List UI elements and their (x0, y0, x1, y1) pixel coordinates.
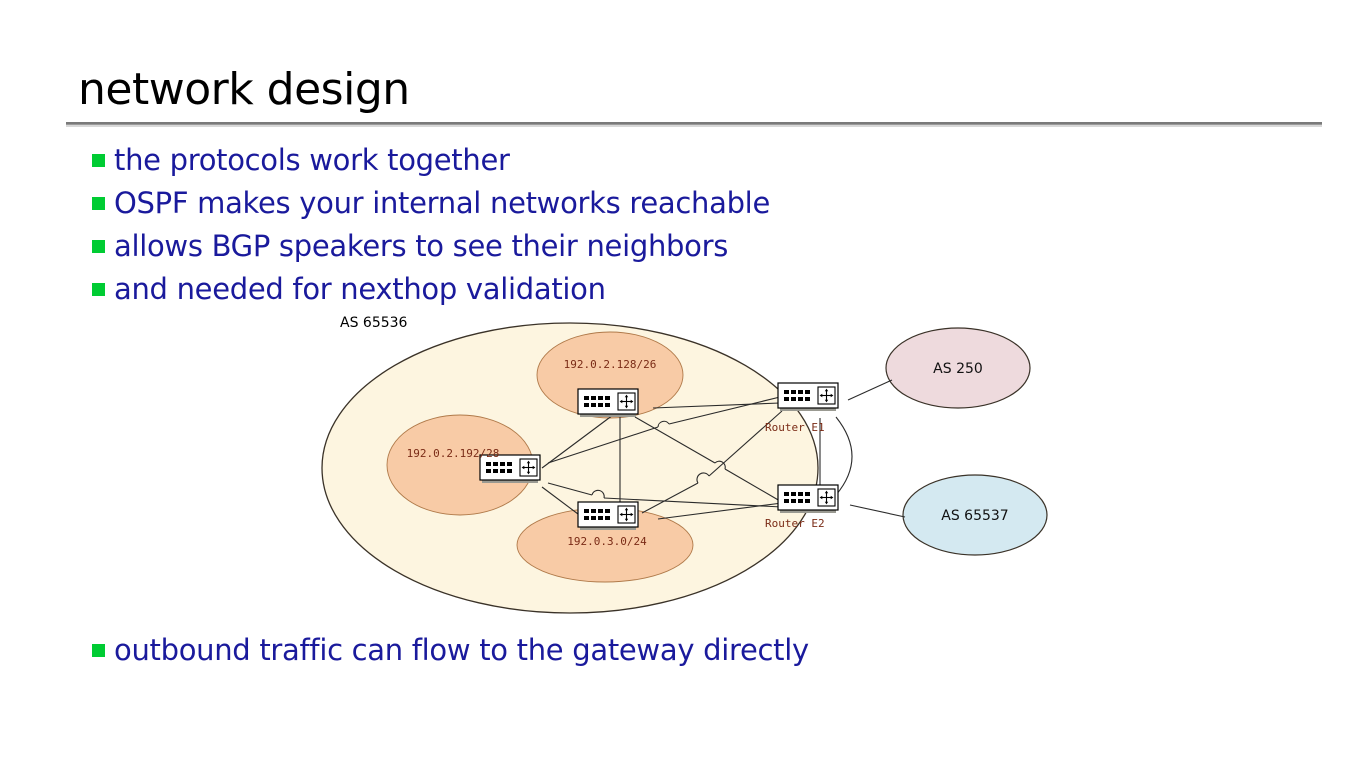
as-65536-label: AS 65536 (340, 315, 408, 331)
bullet-label: and needed for nexthop validation (114, 272, 606, 306)
bullet-square-icon (92, 240, 105, 253)
bullet-label: outbound traffic can flow to the gateway… (114, 633, 809, 667)
bullet-label: the protocols work together (114, 143, 510, 177)
subnet-label-192-0-3-0: 192.0.3.0/24 (567, 535, 647, 548)
list-item: and needed for nexthop validation (92, 267, 770, 310)
bullet-square-icon (92, 283, 105, 296)
network-diagram: AS 65536 192.0.2.128/26 192.0.2.192/28 1… (320, 305, 1080, 625)
bullet-label: OSPF makes your internal networks reacha… (114, 186, 770, 220)
router-icon[interactable] (778, 383, 838, 411)
router-e2-label: Router E2 (765, 517, 825, 530)
bullet-label: allows BGP speakers to see their neighbo… (114, 229, 728, 263)
router-e1-label: Router E1 (765, 421, 825, 434)
as-65537-label: AS 65537 (941, 508, 1008, 524)
list-item: allows BGP speakers to see their neighbo… (92, 224, 770, 267)
title-divider (66, 122, 1322, 127)
list-item: the protocols work together (92, 138, 770, 181)
router-icon[interactable] (578, 389, 638, 417)
page-title: network design (78, 64, 410, 116)
bullet-square-icon (92, 154, 105, 167)
bullet-list-bottom: outbound traffic can flow to the gateway… (92, 628, 809, 671)
bullet-square-icon (92, 644, 105, 657)
bullet-list-top: the protocols work together OSPF makes y… (92, 138, 770, 310)
subnet-label-192-0-2-128: 192.0.2.128/26 (564, 358, 657, 371)
list-item: OSPF makes your internal networks reacha… (92, 181, 770, 224)
subnet-label-192-0-2-192: 192.0.2.192/28 (407, 447, 500, 460)
router-icon[interactable] (578, 502, 638, 530)
list-item: outbound traffic can flow to the gateway… (92, 628, 809, 671)
bullet-square-icon (92, 197, 105, 210)
router-icon[interactable] (778, 485, 838, 513)
as-250-label: AS 250 (933, 361, 983, 377)
